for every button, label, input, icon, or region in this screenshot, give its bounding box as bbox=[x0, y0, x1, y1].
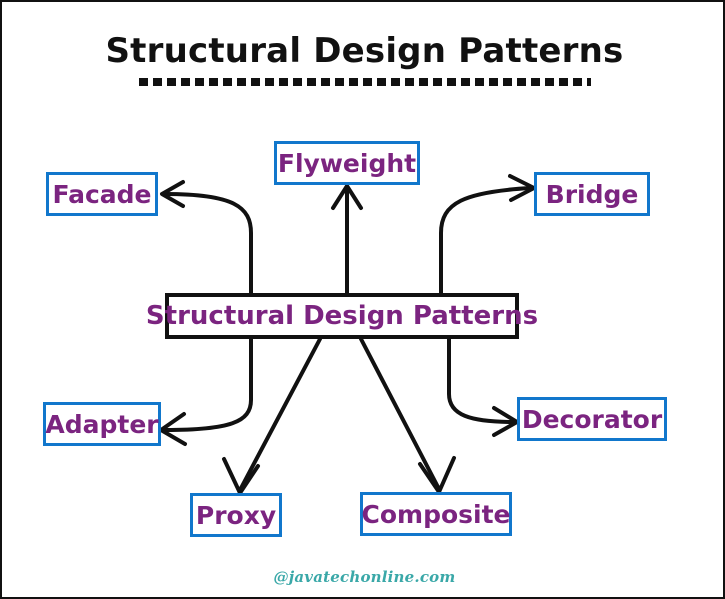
node-decorator-label: Decorator bbox=[522, 407, 662, 432]
node-center-structural-design-patterns[interactable]: Structural Design Patterns bbox=[165, 293, 519, 339]
watermark: @javatechonline.com bbox=[2, 568, 725, 586]
node-proxy[interactable]: Proxy bbox=[190, 493, 282, 537]
node-decorator[interactable]: Decorator bbox=[517, 397, 667, 441]
edge-center-to-decorator bbox=[449, 339, 517, 435]
node-flyweight-label: Flyweight bbox=[278, 151, 416, 176]
node-proxy-label: Proxy bbox=[196, 503, 276, 528]
node-bridge-label: Bridge bbox=[546, 182, 639, 207]
node-adapter[interactable]: Adapter bbox=[43, 402, 161, 446]
node-adapter-label: Adapter bbox=[45, 412, 158, 437]
node-flyweight[interactable]: Flyweight bbox=[274, 141, 420, 185]
edge-center-to-composite bbox=[361, 339, 454, 492]
node-composite[interactable]: Composite bbox=[360, 492, 512, 536]
node-facade[interactable]: Facade bbox=[46, 172, 158, 216]
diagram-canvas: Structural Design Patterns bbox=[0, 0, 725, 599]
edge-center-to-bridge bbox=[441, 176, 534, 293]
edge-center-to-flyweight bbox=[333, 186, 361, 293]
node-composite-label: Composite bbox=[362, 502, 511, 527]
edge-center-to-adapter bbox=[161, 339, 251, 444]
edge-center-to-facade bbox=[162, 182, 251, 293]
node-bridge[interactable]: Bridge bbox=[534, 172, 650, 216]
node-center-label: Structural Design Patterns bbox=[146, 303, 538, 329]
edge-center-to-proxy bbox=[224, 339, 320, 493]
node-facade-label: Facade bbox=[52, 182, 151, 207]
